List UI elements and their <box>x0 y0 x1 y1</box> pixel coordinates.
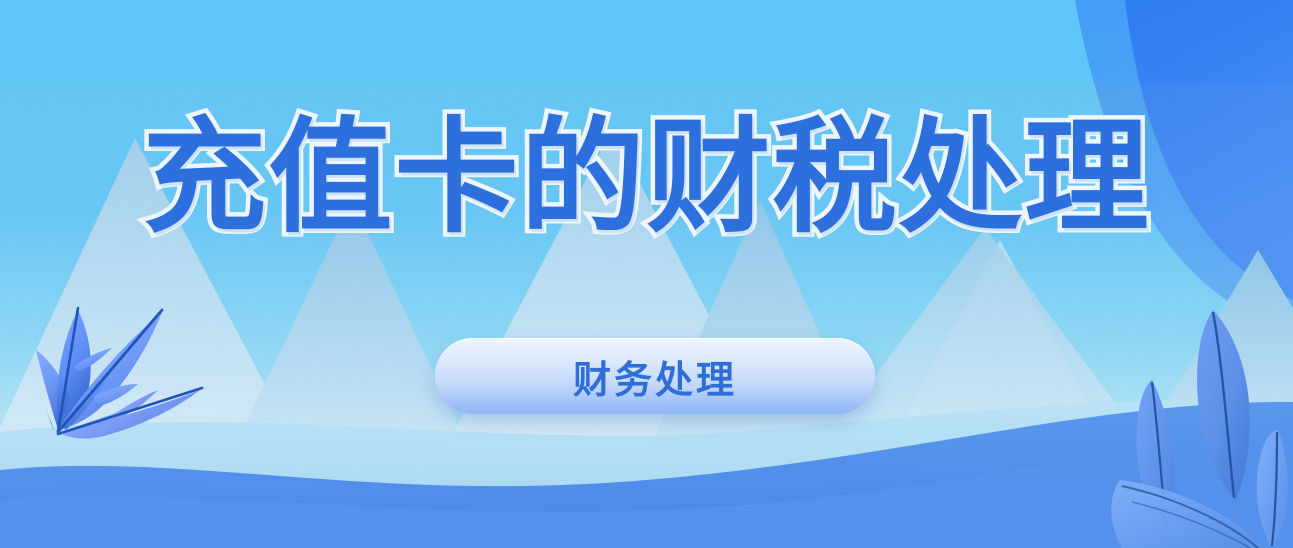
banner-artwork <box>0 0 1293 548</box>
subtitle-pill[interactable]: 财务处理 <box>435 338 875 414</box>
subtitle-pill-label: 财务处理 <box>573 349 737 404</box>
promo-banner: 充值卡的财税处理 财务处理 <box>0 0 1293 548</box>
